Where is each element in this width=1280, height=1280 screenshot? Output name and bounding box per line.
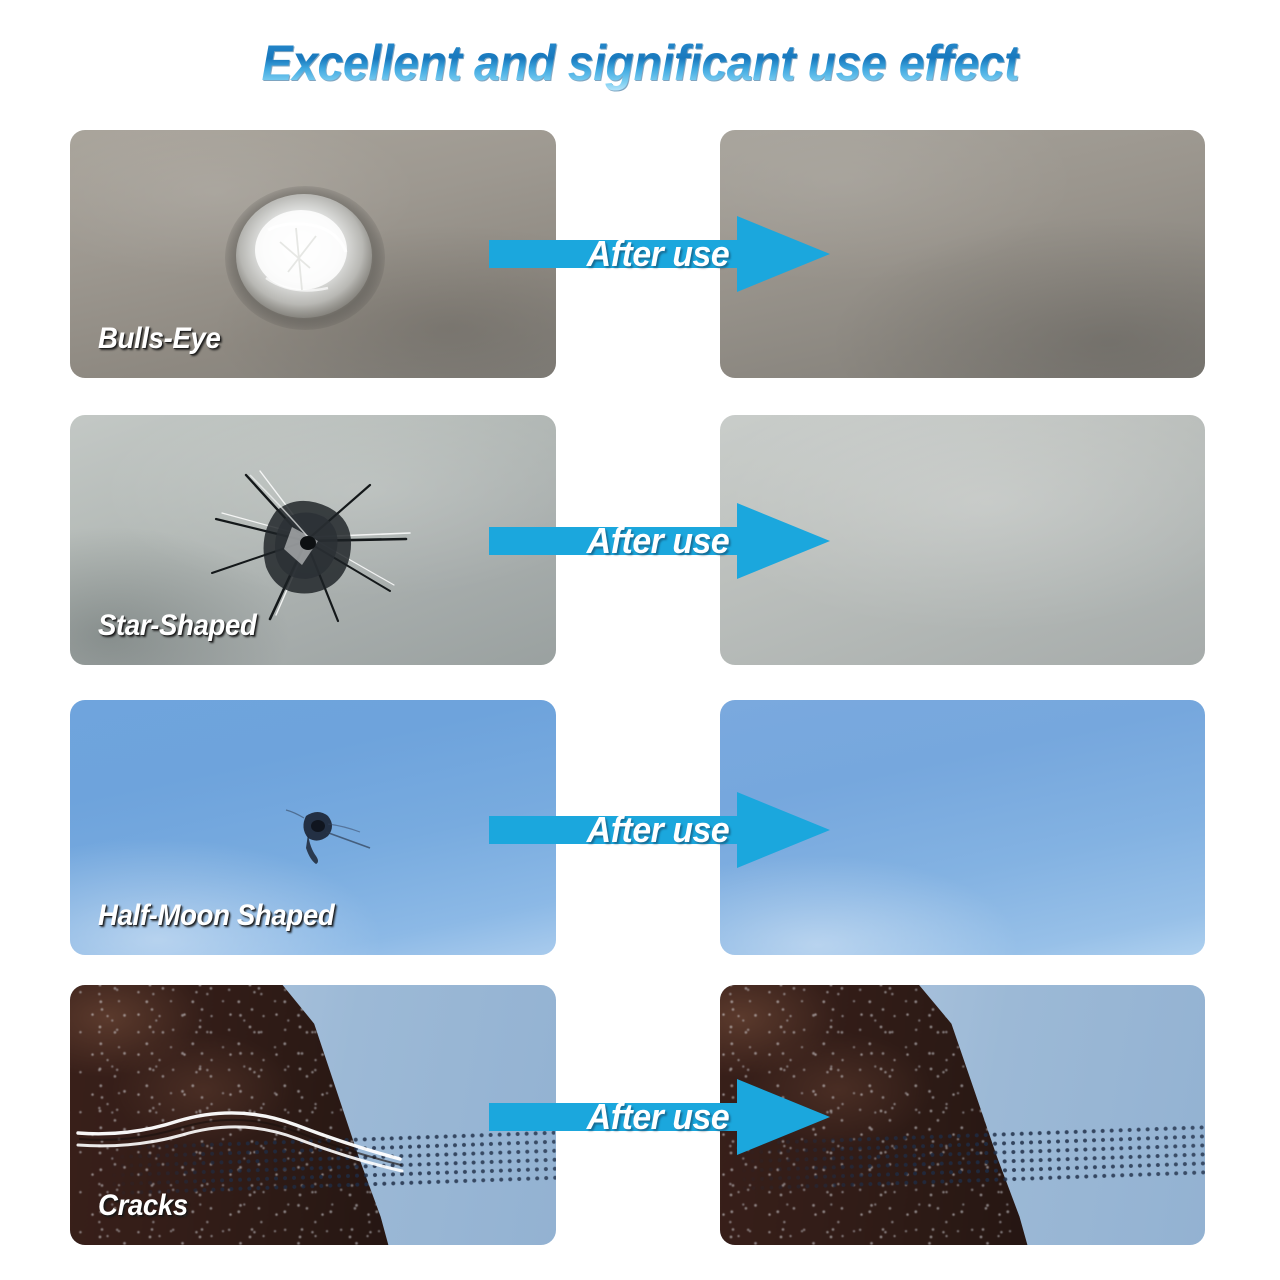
after-image-star-shaped xyxy=(720,415,1205,665)
before-label-bulls-eye: Bulls-Eye xyxy=(98,322,220,356)
before-label-half-moon: Half-Moon Shaped xyxy=(98,899,334,933)
before-label-star-shaped: Star-Shaped xyxy=(98,609,257,643)
sky-surface-after xyxy=(720,700,1205,955)
comparison-row-cracks: Cracks After use xyxy=(0,985,1280,1245)
before-image-cracks: Cracks xyxy=(70,985,556,1245)
page-title: Excellent and significant use effect xyxy=(261,34,1019,92)
sky-surface-after xyxy=(720,985,1205,1245)
before-image-bulls-eye: Bulls-Eye xyxy=(70,130,556,378)
before-image-star-shaped: Star-Shaped xyxy=(70,415,556,665)
after-image-half-moon xyxy=(720,700,1205,955)
comparison-row-half-moon: Half-Moon Shaped After use xyxy=(0,700,1280,955)
foliage-texture xyxy=(720,985,1050,1245)
before-label-cracks: Cracks xyxy=(98,1189,188,1223)
glass-surface-after xyxy=(720,415,1205,665)
after-image-bulls-eye xyxy=(720,130,1205,378)
before-image-half-moon: Half-Moon Shaped xyxy=(70,700,556,955)
comparison-row-bulls-eye: Bulls-Eye After use xyxy=(0,130,1280,378)
glass-surface-after xyxy=(720,130,1205,378)
comparison-row-star-shaped: Star-Shaped After use xyxy=(0,415,1280,665)
after-image-cracks xyxy=(720,985,1205,1245)
tree-silhouette xyxy=(720,985,1050,1245)
title-bar: Excellent and significant use effect xyxy=(0,34,1280,96)
